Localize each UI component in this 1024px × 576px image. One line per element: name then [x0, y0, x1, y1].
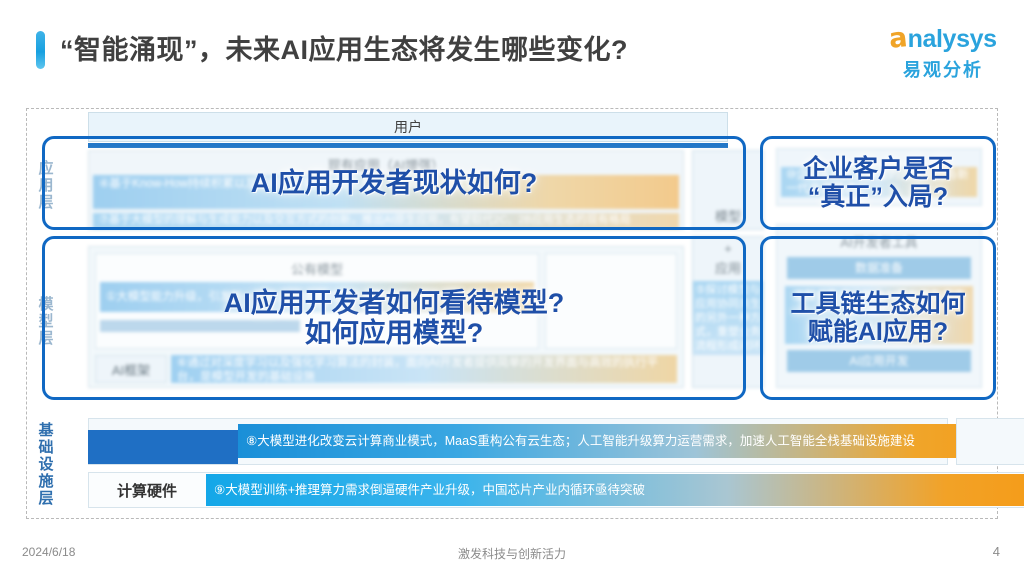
callout-enterprise-customers[interactable]: 企业客户是否 “真正”入局? — [760, 136, 996, 230]
compute-hardware-label: 计算硬件 — [92, 474, 202, 506]
slide: “智能涌现”，未来AI应用生态将发生哪些变化? a nalysys 易观分析 应… — [0, 0, 1024, 576]
title-accent-bar — [36, 31, 45, 69]
infrastructure-layer: ⑧大模型进化改变云计算商业模式，MaaS重构公有云生态；人工智能升级算力运营需求… — [60, 412, 990, 516]
infrastructure-row-1-right — [956, 418, 1024, 465]
callout-toolchain-ecosystem[interactable]: 工具链生态如何 赋能AI应用? — [760, 236, 996, 400]
callout-model-perspective[interactable]: AI应用开发者如何看待模型? 如何应用模型? — [42, 236, 746, 400]
page-title: “智能涌现”，未来AI应用生态将发生哪些变化? — [60, 28, 628, 67]
analysys-logo: a nalysys 易观分析 — [880, 26, 1006, 82]
callout-enterprise-line-2: “真正”入局? — [803, 183, 953, 211]
footer-slogan: 激发科技与创新活力 — [0, 545, 1024, 562]
callout-tool-line-2: 赋能AI应用? — [790, 318, 965, 346]
logo-mark-icon: a — [888, 24, 909, 53]
callout-enterprise-line-1: 企业客户是否 — [803, 155, 953, 183]
callout-tool-line-1: 工具链生态如何 — [790, 290, 965, 318]
slide-header: “智能涌现”，未来AI应用生态将发生哪些变化? a nalysys 易观分析 — [0, 0, 1024, 96]
infrastructure-accent-block — [88, 430, 238, 464]
layer-label-infrastructure: 基础设施层 — [30, 412, 60, 517]
callout-model-line-2: 如何应用模型? — [224, 318, 565, 348]
footer-page-number: 4 — [993, 544, 1000, 559]
logo-chinese-name: 易观分析 — [880, 56, 1006, 82]
callout-application-developer-status[interactable]: AI应用开发者现状如何? — [42, 136, 746, 230]
logo-wordmark: nalysys — [908, 27, 997, 52]
infrastructure-item-8: ⑧大模型进化改变云计算商业模式，MaaS重构公有云生态；人工智能升级算力运营需求… — [238, 424, 1024, 458]
infrastructure-item-9: ⑨大模型训练+推理算力需求倒逼硬件产业升级，中国芯片产业内循环亟待突破 — [206, 474, 1024, 506]
callout-application-line-1: AI应用开发者现状如何? — [251, 168, 538, 198]
callout-model-line-1: AI应用开发者如何看待模型? — [224, 288, 565, 318]
